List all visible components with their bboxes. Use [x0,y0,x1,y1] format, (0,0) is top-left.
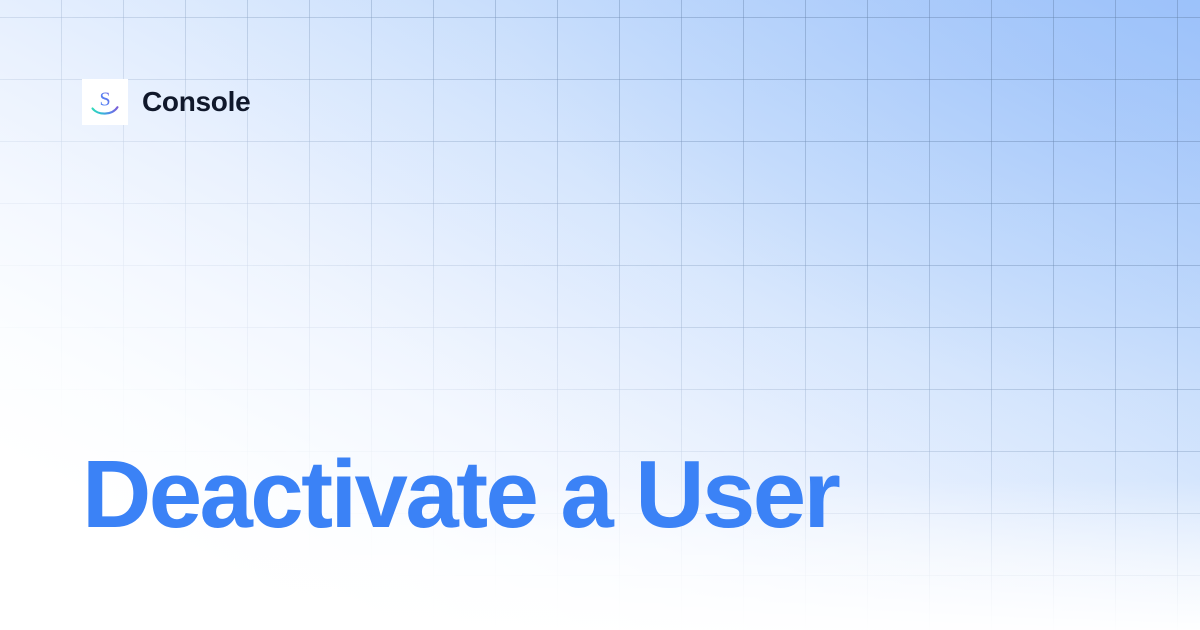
sendbird-logo-icon: S [82,79,128,125]
brand-name-label: Console [142,88,250,116]
og-banner: S Console Deactivate a User [0,0,1200,630]
page-title: Deactivate a User [82,447,838,543]
brand-lockup: S Console [82,79,250,125]
svg-text:S: S [99,89,110,111]
